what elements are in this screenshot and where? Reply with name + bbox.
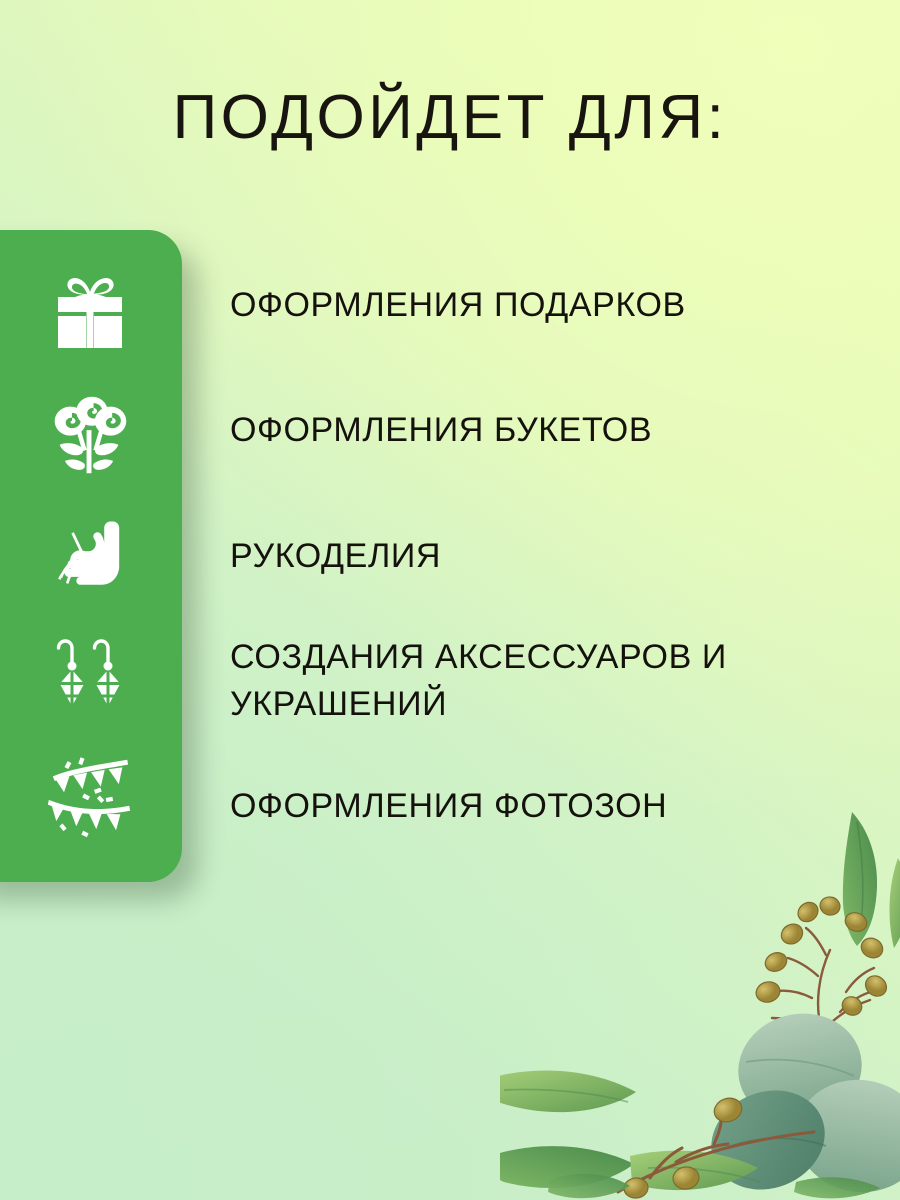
earrings-icon (20, 616, 160, 736)
bunting-flags-icon (20, 736, 160, 856)
poster-canvas: ПОДОЙДЕТ ДЛЯ: (0, 0, 900, 1200)
feature-label: ОФОРМЛЕНИЯ ФОТОЗОН (230, 783, 667, 830)
feature-label: РУКОДЕЛИЯ (230, 533, 441, 580)
list-item: ОФОРМЛЕНИЯ ФОТОЗОН (230, 744, 860, 869)
icon-panel (0, 230, 182, 882)
list-item: ОФОРМЛЕНИЯ ПОДАРКОВ (230, 243, 860, 368)
feature-list: ОФОРМЛЕНИЯ ПОДАРКОВ ОФОРМЛЕНИЯ БУКЕТОВ Р… (230, 243, 860, 869)
roses-bouquet-icon (20, 376, 160, 496)
list-item: ОФОРМЛЕНИЯ БУКЕТОВ (230, 368, 860, 493)
list-item: СОЗДАНИЯ АКСЕССУАРОВ И УКРАШЕНИЙ (230, 619, 860, 744)
page-title: ПОДОЙДЕТ ДЛЯ: (0, 82, 900, 153)
feature-label: ОФОРМЛЕНИЯ ПОДАРКОВ (230, 282, 686, 329)
hand-needlework-icon (20, 496, 160, 616)
gift-box-icon (20, 256, 160, 376)
feature-label: СОЗДАНИЯ АКСЕССУАРОВ И УКРАШЕНИЙ (230, 634, 727, 728)
list-item: РУКОДЕЛИЯ (230, 493, 860, 618)
feature-label: ОФОРМЛЕНИЯ БУКЕТОВ (230, 407, 652, 454)
